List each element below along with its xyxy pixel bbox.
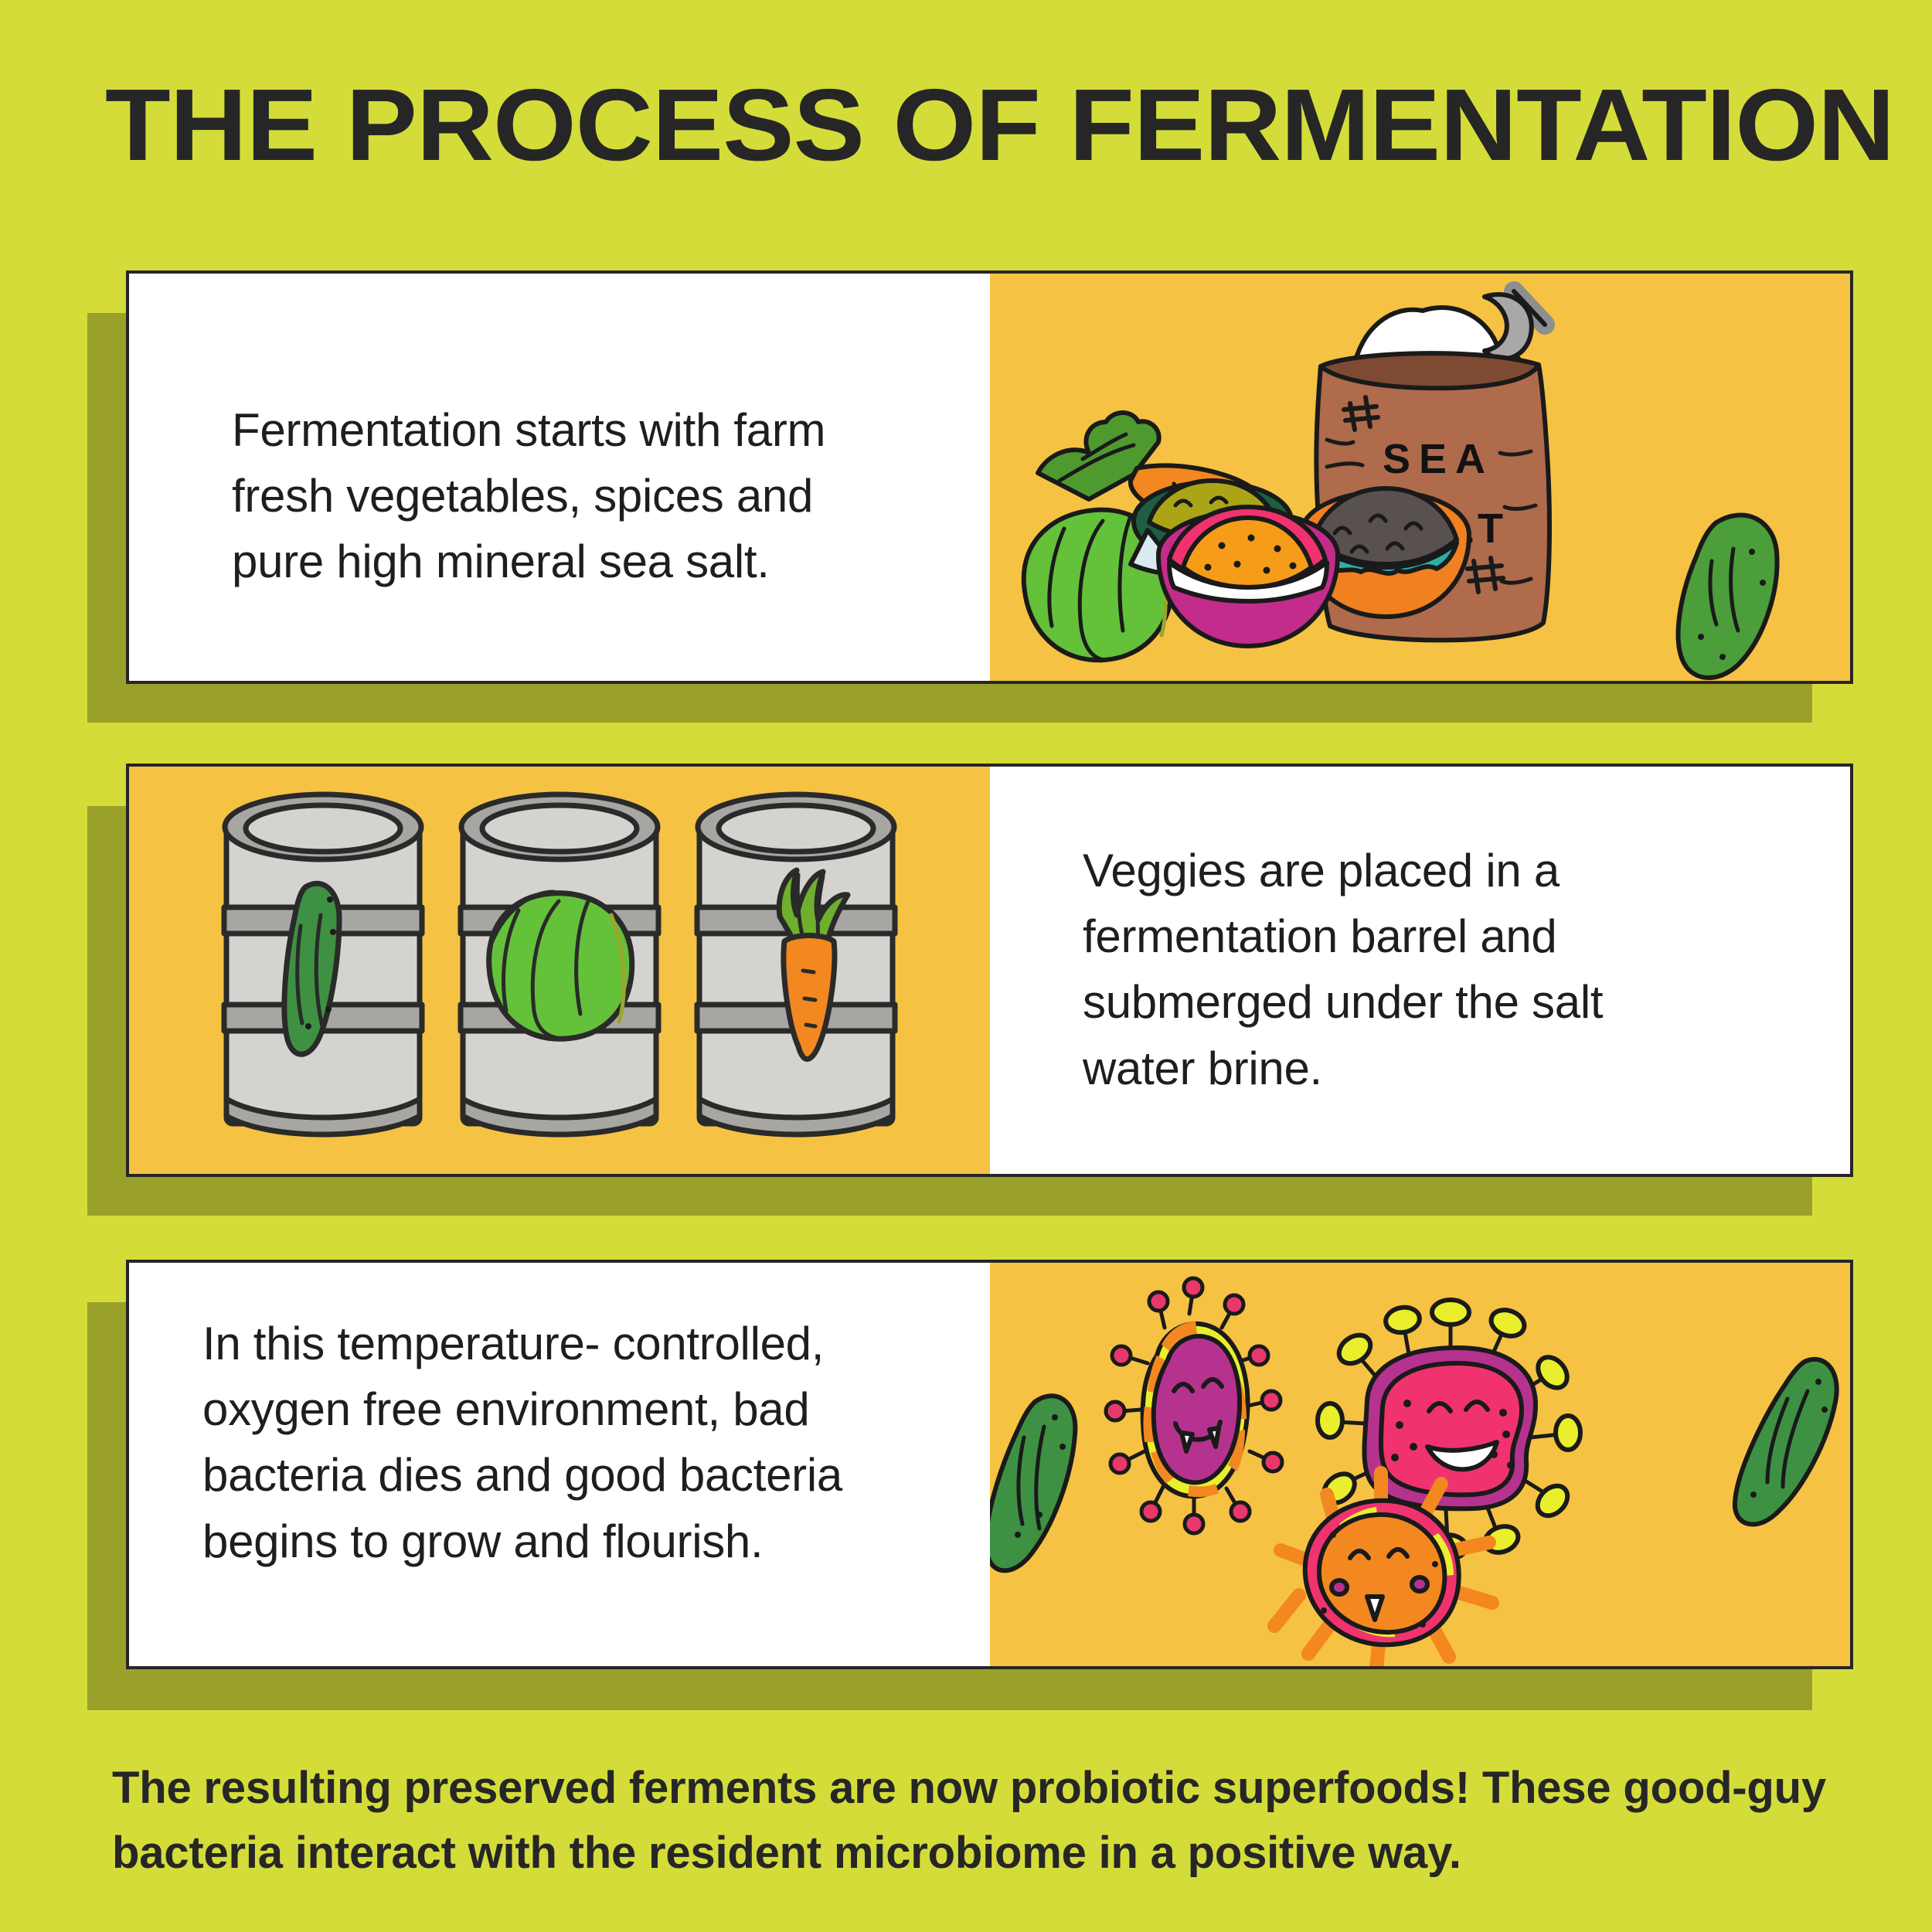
step-2-illustration-half	[129, 767, 990, 1174]
barrels-illustration	[129, 767, 990, 1174]
step-2-card: Veggies are placed in a fermentation bar…	[126, 764, 1853, 1177]
step-3-text: In this temperature- controlled, oxygen …	[202, 1311, 975, 1574]
barrel-1	[224, 794, 422, 1134]
step-3-panel: In this temperature- controlled, oxygen …	[0, 0, 1932, 773]
infographic-canvas: THE PROCESS OF FERMENTATION Fermentation…	[0, 0, 1932, 1932]
pickle-left	[990, 1396, 1075, 1570]
bacteria-magenta-rod	[1106, 1278, 1282, 1533]
step-3-card: In this temperature- controlled, oxygen …	[126, 1260, 1853, 1669]
footer-note: The resulting preserved ferments are now…	[112, 1756, 1851, 1886]
step-2-text: Veggies are placed in a fermentation bar…	[1083, 838, 1670, 1101]
barrel-3	[697, 794, 895, 1134]
step-3-text-half: In this temperature- controlled, oxygen …	[129, 1263, 990, 1666]
step-2-text-half: Veggies are placed in a fermentation bar…	[990, 767, 1850, 1174]
bacteria-illustration	[990, 1263, 1850, 1666]
step-3-illustration-half	[990, 1263, 1850, 1666]
pickle-right	[1735, 1359, 1837, 1525]
barrel-2	[461, 794, 658, 1134]
